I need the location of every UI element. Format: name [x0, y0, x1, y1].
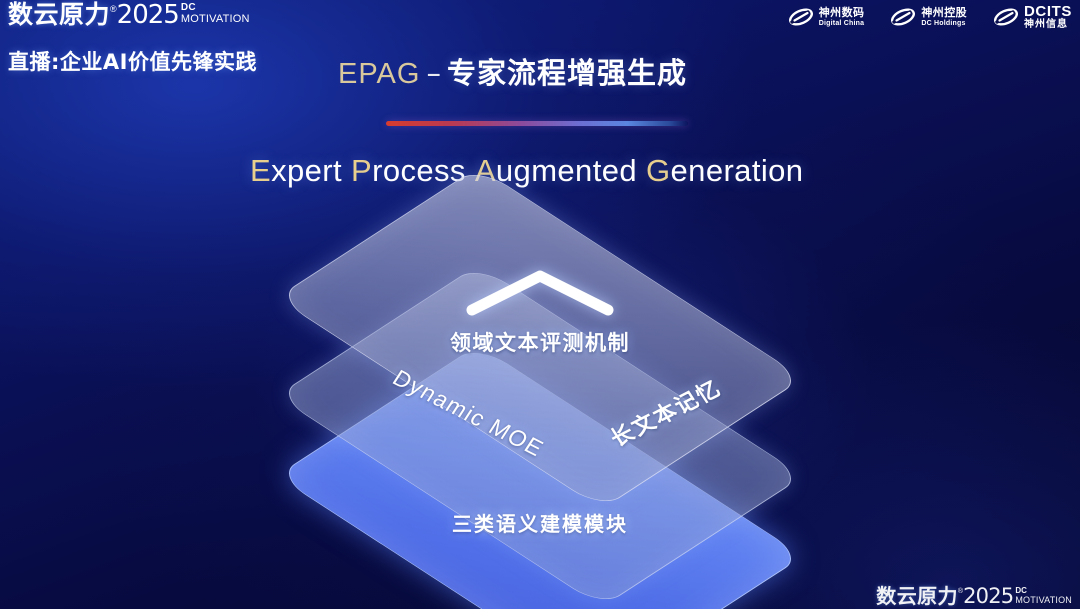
brand-logo-registered: ®: [110, 3, 117, 15]
page-title: EPAG–专家流程增强生成: [338, 54, 687, 93]
title-chinese: 专家流程增强生成: [447, 56, 687, 90]
expansion-rest-generation: eneration: [671, 153, 804, 188]
swoosh-icon: [890, 6, 916, 28]
partner-name-en: DC Holdings: [921, 20, 967, 27]
swoosh-icon: [993, 6, 1019, 28]
brand-logo-cn: 数云原力: [8, 2, 110, 28]
watermark-motivation: MOTIVATION: [1015, 595, 1072, 605]
partner-logo-digital-china: 神州数码 Digital China: [788, 6, 865, 28]
swoosh-icon: [788, 6, 814, 28]
partner-name-cn: 神州信息: [1024, 20, 1072, 30]
title-acronym: EPAG: [338, 58, 420, 90]
livestream-label: 直播:企业AI价值先锋实践: [8, 46, 257, 76]
partner-name-cn: 神州数码: [819, 7, 865, 18]
partner-logo-group: 神州数码 Digital China 神州控股 DC Holdings: [788, 4, 1072, 30]
title-dash: –: [426, 56, 441, 90]
watermark-cn: 数云原力: [876, 586, 958, 607]
partner-label: DCITS 神州信息: [1024, 4, 1072, 30]
footer-watermark: 数云原力 ® 2025 DC MOTIVATION: [876, 586, 1072, 607]
brand-logo-motivation: MOTIVATION: [181, 13, 250, 25]
expansion-cap-g: G: [646, 153, 671, 188]
partner-label: 神州数码 Digital China: [819, 7, 865, 27]
title-expansion: Expert Process Augmented Generation: [250, 151, 803, 191]
partner-logo-dcits: DCITS 神州信息: [993, 4, 1072, 30]
layer-stack-diagram: 领域文本评测机制 Dynamic MOE 长文本记忆 三类语义建模模块: [0, 218, 1080, 578]
brand-logo-year: 2025: [117, 2, 179, 28]
title-divider: [386, 121, 688, 126]
expansion-rest-expert: xpert: [271, 153, 342, 188]
partner-name-en: DCITS: [1024, 4, 1072, 19]
watermark-tagline: DC MOTIVATION: [1015, 587, 1072, 605]
brand-logo-tagline: DC MOTIVATION: [181, 3, 250, 25]
expansion-rest-augmented: ugmented: [496, 153, 637, 188]
expansion-cap-e: E: [250, 153, 271, 188]
partner-name-en: Digital China: [819, 20, 865, 27]
brand-logo: 数云原力 ® 2025 DC MOTIVATION: [8, 2, 250, 28]
brand-logo-dc: DC: [181, 3, 250, 13]
slide-canvas: 数云原力 ® 2025 DC MOTIVATION 直播:企业AI价值先锋实践 …: [0, 0, 1080, 609]
watermark-year: 2025: [963, 586, 1013, 607]
partner-label: 神州控股 DC Holdings: [921, 7, 967, 27]
partner-logo-dc-holdings: 神州控股 DC Holdings: [890, 6, 967, 28]
partner-name-cn: 神州控股: [921, 7, 967, 18]
watermark-dc: DC: [1015, 587, 1072, 595]
expansion-cap-p: P: [351, 153, 372, 188]
